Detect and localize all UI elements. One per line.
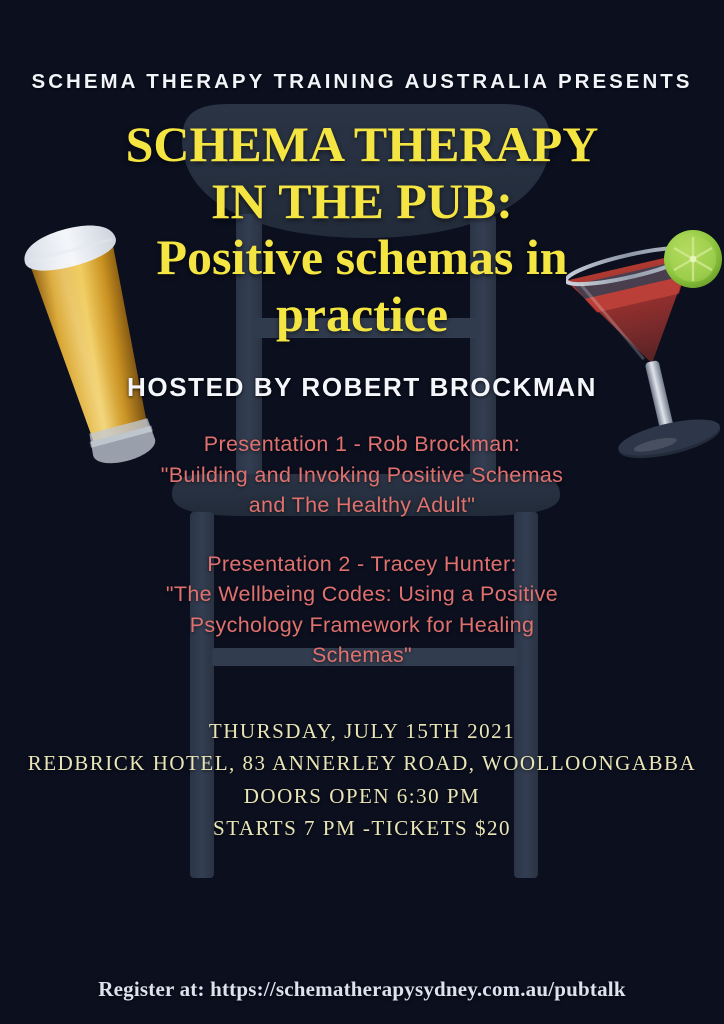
presentation-2: Presentation 2 - Tracey Hunter: "The Wel…	[62, 549, 662, 671]
presentation-2-line-3: Psychology Framework for Healing	[62, 610, 662, 641]
title-line-2: IN THE PUB:	[42, 173, 682, 230]
presentation-1-line-1: Presentation 1 - Rob Brockman:	[62, 429, 662, 460]
start-and-ticket-price: STARTS 7 PM -TICKETS $20	[12, 812, 712, 845]
title-line-3: Positive schemas in	[42, 229, 682, 286]
title-line-4: practice	[42, 286, 682, 343]
presentation-2-line-1: Presentation 2 - Tracey Hunter:	[62, 549, 662, 580]
event-date: THURSDAY, JULY 15TH 2021	[12, 715, 712, 748]
presentation-1: Presentation 1 - Rob Brockman: "Building…	[62, 429, 662, 521]
page-title: SCHEMA THERAPY IN THE PUB: Positive sche…	[42, 116, 682, 342]
presentations-list: Presentation 1 - Rob Brockman: "Building…	[62, 429, 662, 671]
event-venue: REDBRICK HOTEL, 83 ANNERLEY ROAD, WOOLLO…	[12, 747, 712, 780]
doors-open: DOORS OPEN 6:30 PM	[12, 780, 712, 813]
presentation-2-line-2: "The Wellbeing Codes: Using a Positive	[62, 579, 662, 610]
presentation-1-line-3: and The Healthy Adult"	[62, 490, 662, 521]
event-details: THURSDAY, JULY 15TH 2021 REDBRICK HOTEL,…	[12, 715, 712, 845]
presenter-org-line: SCHEMA THERAPY TRAINING AUSTRALIA PRESEN…	[32, 70, 693, 94]
presentation-2-line-4: Schemas"	[62, 640, 662, 671]
event-poster: SCHEMA THERAPY TRAINING AUSTRALIA PRESEN…	[0, 0, 724, 1024]
title-line-1: SCHEMA THERAPY	[42, 116, 682, 173]
host-line: HOSTED BY ROBERT BROCKMAN	[127, 372, 597, 403]
presentation-1-line-2: "Building and Invoking Positive Schemas	[62, 460, 662, 491]
poster-text-layer: SCHEMA THERAPY TRAINING AUSTRALIA PRESEN…	[0, 0, 724, 1024]
